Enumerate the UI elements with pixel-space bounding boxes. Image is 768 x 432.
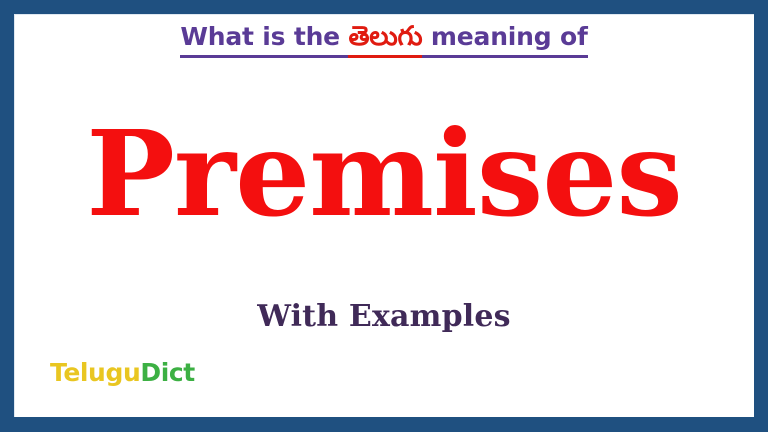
- site-logo-part-one: Telugu: [50, 358, 140, 387]
- main-headword: Premises: [14, 110, 754, 237]
- card-inner-panel: What is the తెలుగు meaning of Premises W…: [14, 14, 754, 417]
- site-logo-part-two: Dict: [140, 358, 195, 387]
- header-question-text: What is the తెలుగు meaning of: [180, 24, 587, 58]
- site-logo[interactable]: TeluguDict: [50, 360, 195, 385]
- header-question: What is the తెలుగు meaning of: [14, 24, 754, 58]
- header-suffix-label: meaning of: [422, 22, 587, 51]
- header-language-word: తెలుగు: [348, 24, 422, 58]
- thumbnail-card: What is the తెలుగు meaning of Premises W…: [0, 0, 768, 432]
- subtitle-label: With Examples: [14, 299, 754, 334]
- header-prefix-label: What is the: [180, 22, 348, 51]
